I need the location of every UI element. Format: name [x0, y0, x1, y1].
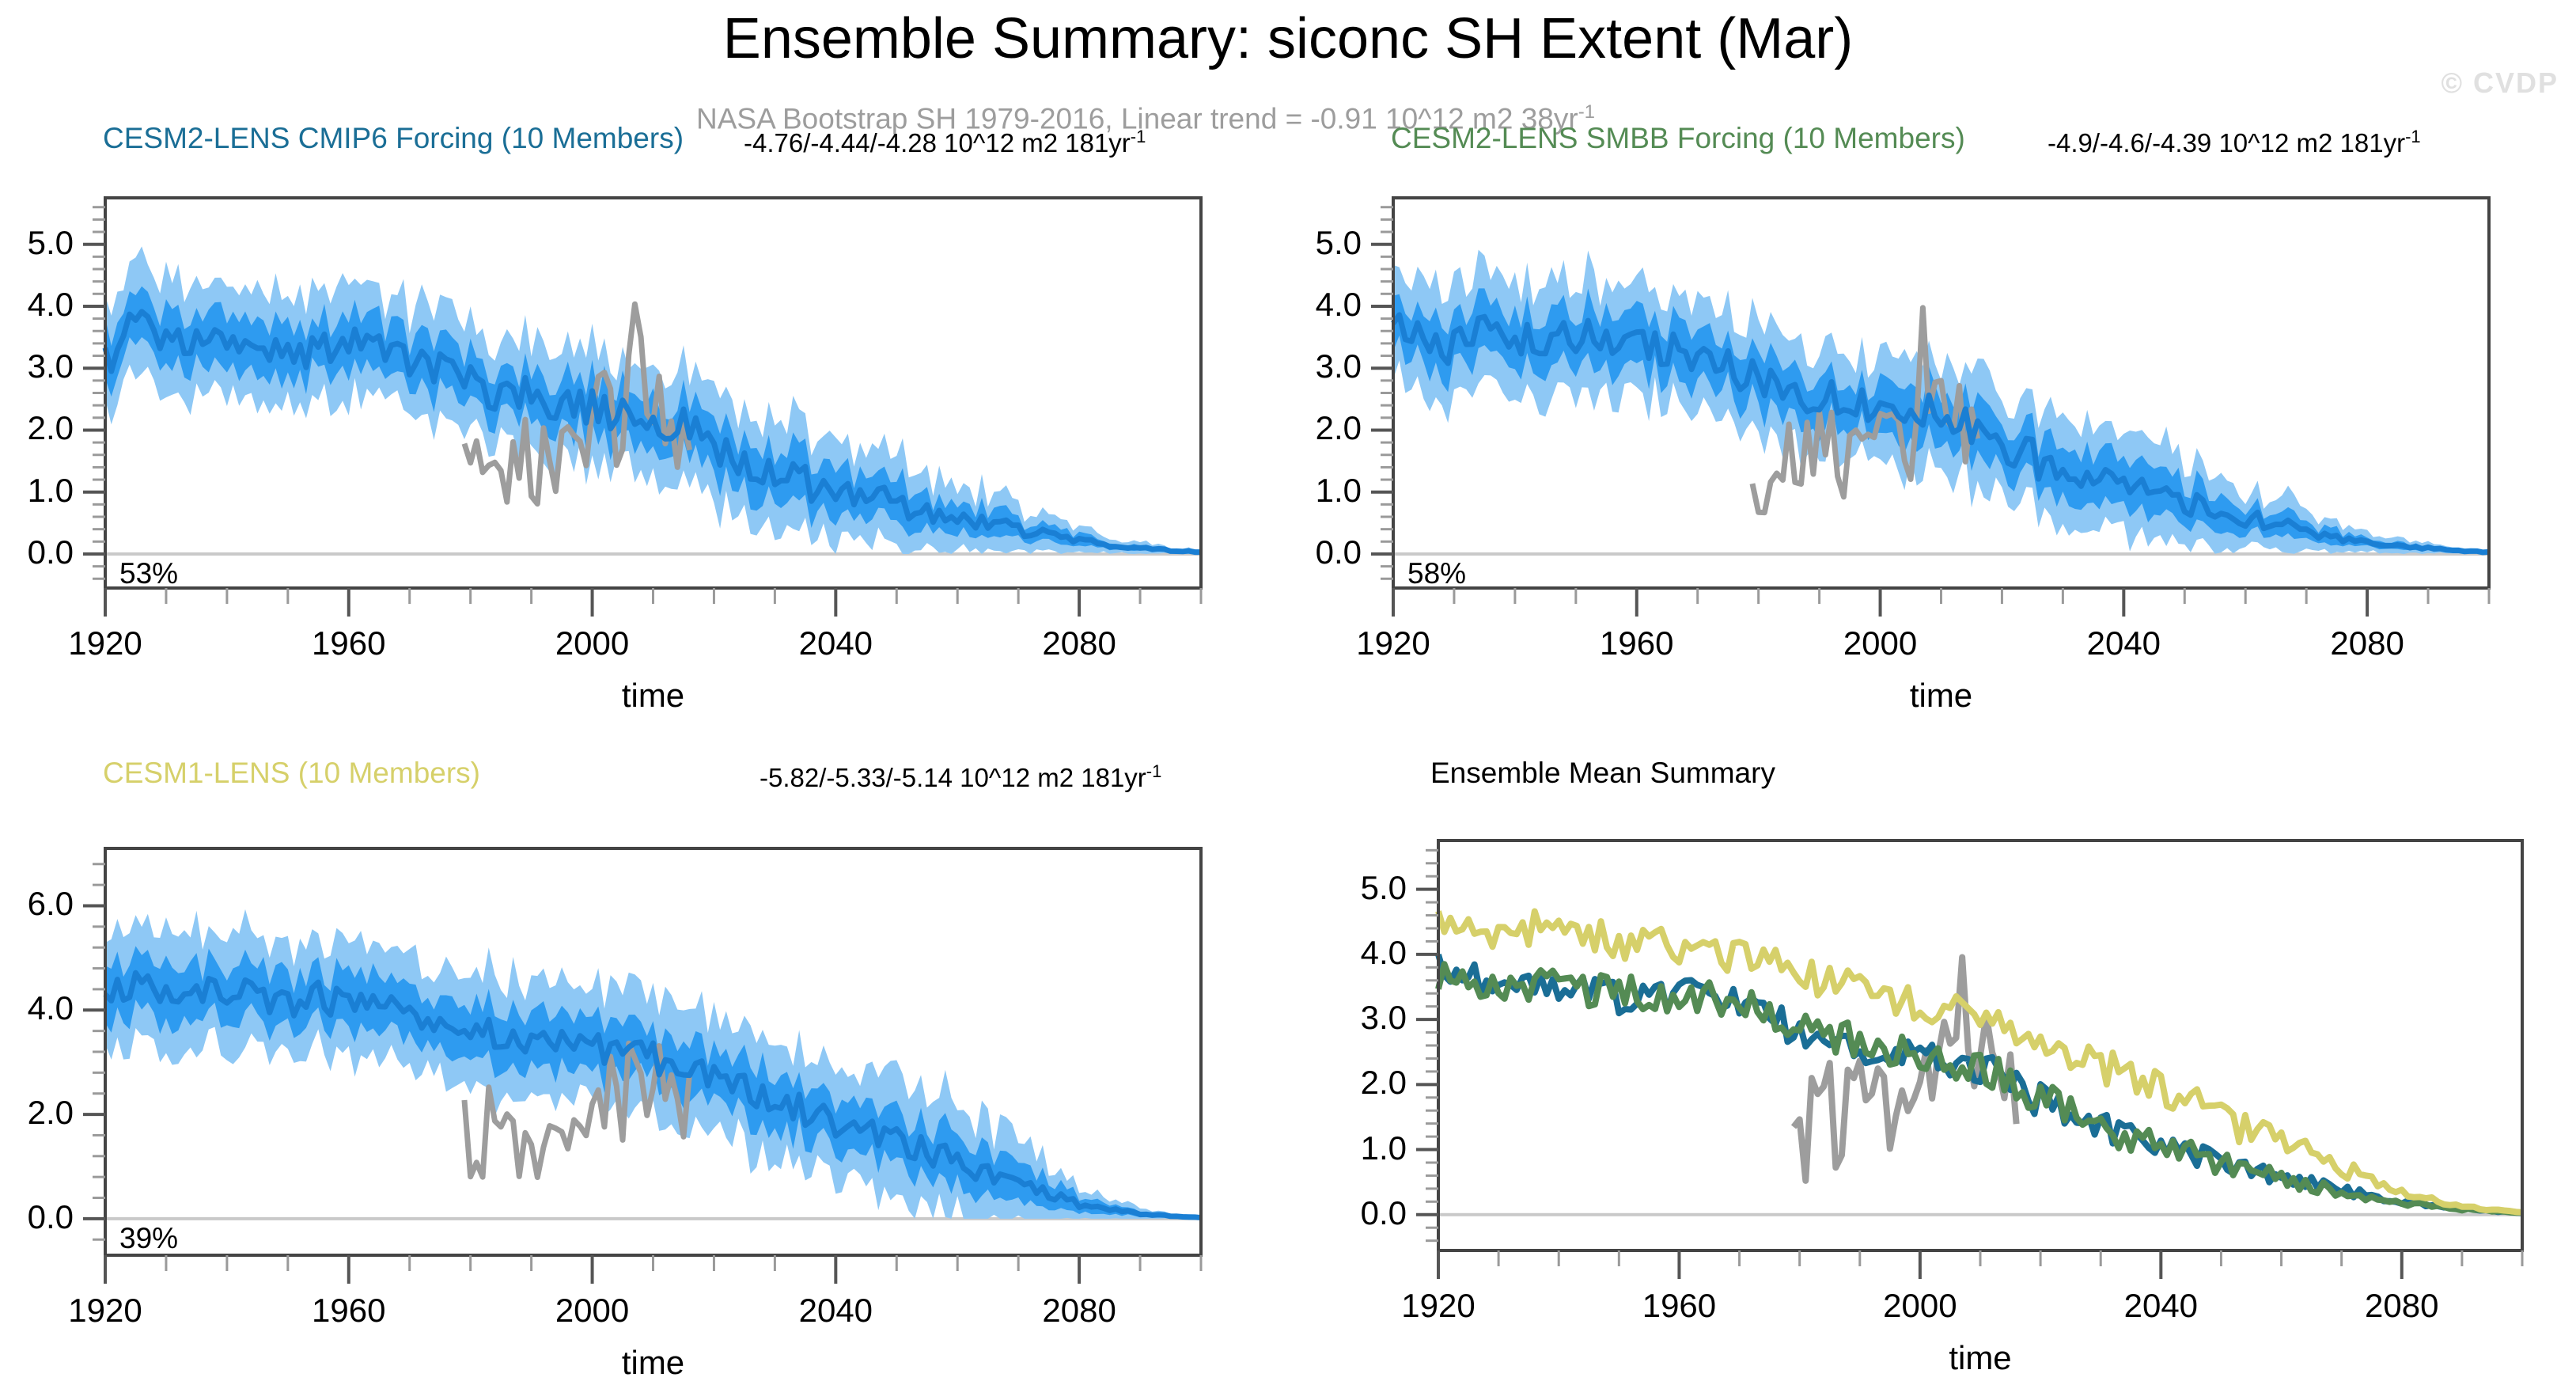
- x-tick-label: 1920: [1322, 624, 1464, 662]
- x-tick-label: 2000: [521, 624, 664, 662]
- panel-cesm2-smbb: CESM2-LENS SMBB Forcing (10 Members) -4.…: [1288, 111, 2570, 752]
- y-tick-label: 5.0: [0, 224, 74, 262]
- y-tick-label: 2.0: [1288, 1064, 1407, 1102]
- figure-canvas: Ensemble Summary: siconc SH Extent (Mar)…: [0, 0, 2576, 1384]
- y-tick-label: 3.0: [1288, 347, 1362, 385]
- x-tick-label: 2080: [1008, 624, 1150, 662]
- panel-cesm1-lens: CESM1-LENS (10 Members) -5.82/-5.33/-5.1…: [0, 752, 1282, 1385]
- y-tick-label: 4.0: [0, 286, 74, 324]
- panel-trend: -4.9/-4.6/-4.39 10^12 m2 181yr-1: [2048, 127, 2421, 158]
- percent-annotation: 58%: [1407, 557, 1466, 590]
- x-tick-label: 2000: [1809, 624, 1952, 662]
- panel-trend-text: -4.76/-4.44/-4.28 10^12 m2 181yr: [744, 128, 1131, 157]
- plot-svg: [0, 752, 1282, 1385]
- x-tick-label: 1960: [1608, 1287, 1750, 1325]
- y-tick-label: 5.0: [1288, 224, 1362, 262]
- x-tick-label: 2040: [764, 624, 907, 662]
- panel-title: CESM2-LENS SMBB Forcing (10 Members): [1391, 122, 1965, 155]
- cvdp-watermark: © CVDP: [2441, 66, 2559, 100]
- x-tick-label: 2080: [2296, 624, 2438, 662]
- panel-title: CESM1-LENS (10 Members): [103, 757, 480, 790]
- y-tick-label: 0.0: [1288, 533, 1362, 571]
- panel-trend-exponent: -1: [1131, 127, 1146, 146]
- x-tick-label: 2080: [2331, 1287, 2473, 1325]
- x-tick-label: 1960: [1566, 624, 1708, 662]
- y-tick-label: 2.0: [1288, 409, 1362, 447]
- percent-annotation: 39%: [119, 1222, 178, 1255]
- y-tick-label: 3.0: [0, 347, 74, 385]
- panel-title: Ensemble Mean Summary: [1430, 757, 1775, 790]
- x-tick-label: 2000: [521, 1292, 664, 1330]
- x-tick-label: 1960: [278, 624, 420, 662]
- x-tick-label: 2040: [2052, 624, 2195, 662]
- panel-trend-exponent: -1: [2405, 127, 2421, 146]
- y-tick-label: 5.0: [1288, 869, 1407, 907]
- y-tick-label: 1.0: [1288, 472, 1362, 510]
- panel-trend-text: -5.82/-5.33/-5.14 10^12 m2 181yr: [760, 763, 1146, 792]
- x-axis-label: time: [1438, 1339, 2522, 1377]
- x-tick-label: 1920: [34, 1292, 176, 1330]
- panel-title: CESM2-LENS CMIP6 Forcing (10 Members): [103, 122, 684, 155]
- panel-trend: -5.82/-5.33/-5.14 10^12 m2 181yr-1: [760, 761, 1161, 793]
- x-tick-label: 2040: [764, 1292, 907, 1330]
- x-tick-label: 1920: [1367, 1287, 1510, 1325]
- x-tick-label: 2000: [1849, 1287, 1991, 1325]
- plot-area: [0, 752, 1282, 1385]
- x-axis-label: time: [1393, 677, 2489, 715]
- page-title: Ensemble Summary: siconc SH Extent (Mar): [0, 6, 2576, 71]
- x-tick-label: 1920: [34, 624, 176, 662]
- y-tick-label: 2.0: [0, 1094, 74, 1132]
- y-tick-label: 3.0: [1288, 999, 1407, 1037]
- panel-trend-text: -4.9/-4.6/-4.39 10^12 m2 181yr: [2048, 128, 2405, 157]
- y-tick-label: 4.0: [1288, 934, 1407, 972]
- y-tick-label: 0.0: [0, 1198, 74, 1236]
- y-tick-label: 1.0: [1288, 1129, 1407, 1167]
- x-tick-label: 2080: [1008, 1292, 1150, 1330]
- y-tick-label: 4.0: [0, 989, 74, 1027]
- panel-ensemble-mean-summary: Ensemble Mean Summary 0.01.02.03.04.05.0…: [1288, 752, 2570, 1385]
- y-tick-label: 1.0: [0, 472, 74, 510]
- y-tick-label: 0.0: [0, 533, 74, 571]
- panel-cesm2-cmip6: CESM2-LENS CMIP6 Forcing (10 Members) -4…: [0, 111, 1282, 752]
- x-axis-label: time: [105, 677, 1201, 715]
- panel-trend-exponent: -1: [1146, 761, 1162, 781]
- y-tick-label: 4.0: [1288, 286, 1362, 324]
- x-axis-label: time: [105, 1344, 1201, 1382]
- y-tick-label: 2.0: [0, 409, 74, 447]
- y-tick-label: 0.0: [1288, 1194, 1407, 1232]
- panel-trend: -4.76/-4.44/-4.28 10^12 m2 181yr-1: [744, 127, 1146, 158]
- percent-annotation: 53%: [119, 557, 178, 590]
- y-tick-label: 6.0: [0, 885, 74, 923]
- x-tick-label: 1960: [278, 1292, 420, 1330]
- x-tick-label: 2040: [2089, 1287, 2232, 1325]
- ensemble-range-band: [1393, 250, 2489, 554]
